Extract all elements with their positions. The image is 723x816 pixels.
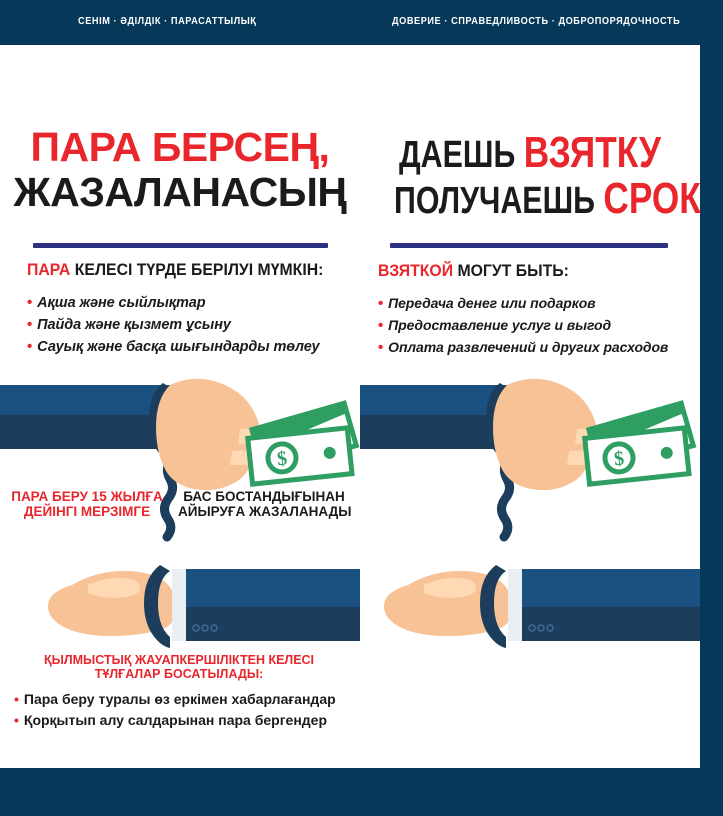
kazakh-column: ПАРА БЕРСЕҢ, ЖАЗАЛАНАСЫҢ ПАРА КЕЛЕСІ ТҮР…	[0, 45, 360, 768]
top-values-bar: СЕНІМ · ӘДІЛДІК · ПАРАСАТТЫЛЫҚ ДОВЕРИЕ ·…	[0, 0, 723, 45]
topbar-kazakh-values: СЕНІМ · ӘДІЛДІК · ПАРАСАТТЫЛЫҚ	[78, 16, 256, 27]
russian-headline-line2: ПОЛУЧАЕШЬ СРОК	[394, 177, 666, 221]
hand-receiving-icon	[384, 571, 510, 636]
russian-bribe-forms-list: • Передача денег или подарков • Предоста…	[378, 295, 668, 361]
svg-text:$: $	[276, 447, 288, 470]
list-item: • Пайда және қызмет ұсыну	[27, 317, 320, 333]
russian-subheading-accent: ВЗЯТКОЙ	[378, 261, 453, 280]
kazakh-exemption-heading: ҚЫЛМЫСТЫҚ ЖАУАПКЕРШІЛІКТЕН КЕЛЕСІ ТҰЛҒАЛ…	[14, 653, 344, 682]
russian-divider-rule	[390, 243, 668, 248]
poster-sheet: ПАРА БЕРСЕҢ, ЖАЗАЛАНАСЫҢ ПАРА КЕЛЕСІ ТҮР…	[0, 45, 700, 768]
russian-column: ДАЕШЬ ВЗЯТКУ ПОЛУЧАЕШЬ СРОК ВЗЯТКОЙ МОГУ…	[360, 45, 700, 768]
sleeve-icon	[0, 385, 175, 449]
handcuff-icon-2	[144, 565, 170, 648]
list-item: • Передача денег или подарков	[378, 295, 668, 311]
russian-headline-line1-accent: ВЗЯТКУ	[524, 128, 661, 177]
kazakh-divider-rule	[33, 243, 328, 248]
russian-subheading-rest: МОГУТ БЫТЬ:	[453, 261, 569, 280]
kazakh-headline-line1: ПАРА БЕРСЕҢ,	[0, 127, 360, 168]
bullet-dot-icon: •	[27, 317, 32, 332]
hand-receiving-icon	[48, 571, 174, 636]
sleeve-icon-2	[508, 569, 700, 641]
russian-headline-line1: ДАЕШЬ ВЗЯТКУ	[394, 131, 666, 175]
caption-line: БАС БОСТАНДЫҒЫНАН	[178, 489, 350, 504]
kazakh-subheading-rest: КЕЛЕСІ ТҮРДЕ БЕРІЛУІ МҮМКІН:	[70, 260, 323, 279]
caption-line: ДЕЙІНГІ МЕРЗІМГЕ	[8, 504, 166, 519]
list-item-label: Оплата развлечений и других расходов	[388, 339, 668, 355]
bullet-dot-icon: •	[378, 296, 383, 311]
topbar-russian-values: ДОВЕРИЕ · СПРАВЕДЛИВОСТЬ · ДОБРОПОРЯДОЧН…	[392, 16, 680, 27]
exemption-heading-line: ҚЫЛМЫСТЫҚ ЖАУАПКЕРШІЛІКТЕН КЕЛЕСІ	[14, 653, 344, 667]
hand-giving-money-icon	[493, 379, 627, 490]
banknotes-icon: $	[248, 403, 357, 484]
list-item-label: Предоставление услуг и выгод	[388, 317, 611, 333]
handcuff-icon-2	[480, 565, 506, 648]
bullet-dot-icon: •	[378, 340, 383, 355]
hand-giving-money-icon	[156, 379, 290, 490]
bullet-dot-icon: •	[378, 318, 383, 333]
bullet-dot-icon: •	[14, 692, 19, 706]
list-item-label: Передача денег или подарков	[388, 295, 595, 311]
list-item: • Ақша және сыйлықтар	[27, 295, 320, 311]
caption-line: АЙЫРУҒА ЖАЗАЛАНАДЫ	[178, 504, 350, 519]
kazakh-subheading-accent: ПАРА	[27, 260, 70, 279]
list-item-label: Пайда және қызмет ұсыну	[37, 317, 231, 333]
handcuff-icon	[486, 383, 510, 537]
list-item-label: Ақша және сыйлықтар	[37, 295, 205, 311]
bullet-dot-icon: •	[27, 295, 32, 310]
sleeve-icon-2	[172, 569, 360, 641]
list-item: • Оплата развлечений и других расходов	[378, 339, 668, 355]
bullet-dot-icon: •	[27, 339, 32, 354]
list-item: • Сауық және басқа шығындарды төлеу	[27, 339, 320, 355]
russian-headline-line2-accent: СРОК	[603, 174, 700, 223]
russian-headline: ДАЕШЬ ВЗЯТКУ ПОЛУЧАЕШЬ СРОК	[360, 131, 700, 221]
kazakh-punishment-caption-dark: БАС БОСТАНДЫҒЫНАН АЙЫРУҒА ЖАЗАЛАНАДЫ	[178, 489, 350, 519]
exemption-heading-line: ТҰЛҒАЛАР БОСАТЫЛАДЫ:	[14, 667, 344, 681]
list-item: • Пара беру туралы өз еркімен хабарлаған…	[14, 691, 336, 707]
bottom-navy-band	[0, 768, 723, 816]
svg-text:$: $	[613, 447, 625, 470]
russian-subheading: ВЗЯТКОЙ МОГУТ БЫТЬ:	[378, 261, 569, 281]
russian-headline-line2-plain: ПОЛУЧАЕШЬ	[394, 180, 603, 222]
kazakh-bribe-forms-list: • Ақша және сыйлықтар • Пайда және қызме…	[27, 295, 320, 361]
list-item-label: Қорқытып алу салдарынан пара бергендер	[24, 712, 327, 728]
sleeve-icon	[360, 385, 510, 449]
kazakh-exemption-list: • Пара беру туралы өз еркімен хабарлаған…	[14, 691, 336, 733]
banknotes-icon: $	[585, 403, 694, 484]
kazakh-subheading: ПАРА КЕЛЕСІ ТҮРДЕ БЕРІЛУІ МҮМКІН:	[27, 260, 323, 280]
list-item: • Предоставление услуг и выгод	[378, 317, 668, 333]
russian-headline-line1-plain: ДАЕШЬ	[399, 134, 524, 176]
caption-line: ПАРА БЕРУ 15 ЖЫЛҒА	[8, 489, 166, 504]
kazakh-headline: ПАРА БЕРСЕҢ, ЖАЗАЛАНАСЫҢ	[0, 127, 360, 213]
list-item: • Қорқытып алу салдарынан пара бергендер	[14, 712, 336, 728]
kazakh-headline-line2: ЖАЗАЛАНАСЫҢ	[0, 172, 360, 213]
bullet-dot-icon: •	[14, 713, 19, 727]
list-item-label: Пара беру туралы өз еркімен хабарлағанда…	[24, 691, 336, 707]
kazakh-punishment-caption-red: ПАРА БЕРУ 15 ЖЫЛҒА ДЕЙІНГІ МЕРЗІМГЕ	[8, 489, 166, 519]
list-item-label: Сауық және басқа шығындарды төлеу	[37, 339, 319, 355]
